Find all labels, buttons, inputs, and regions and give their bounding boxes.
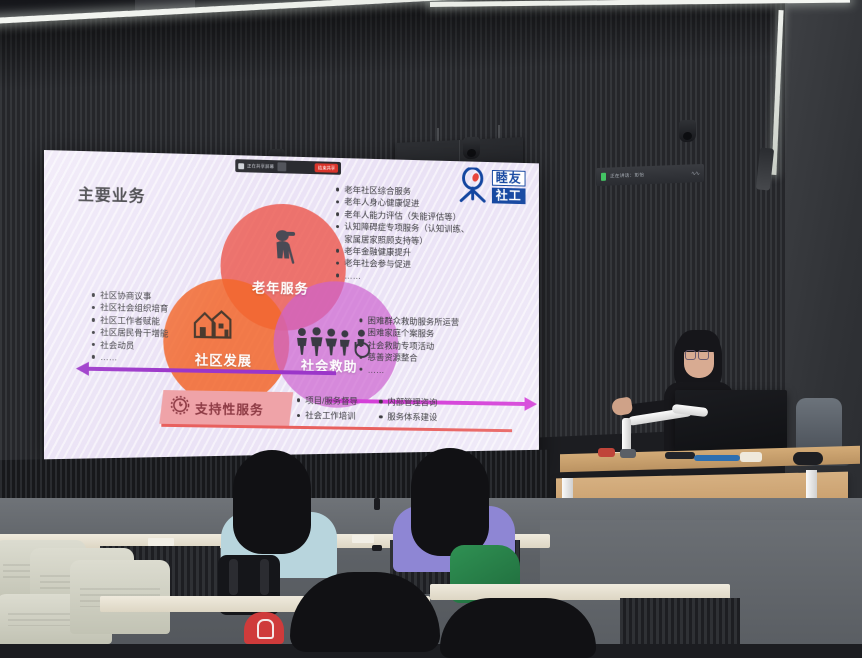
list-item: ……	[359, 363, 459, 377]
list-item: ……	[92, 351, 169, 365]
bullet-dot	[336, 261, 339, 264]
elderly-services-list: 老年社区综合服务 老年人身心健康促进 老年人能力评估（失能评估等） 认知障碍症专…	[336, 184, 469, 285]
share-status-label: 正在共享屏幕	[247, 163, 274, 170]
list-item: 项目/服务督导	[297, 394, 358, 407]
bullet-dot	[336, 212, 339, 215]
list-item: 社会工作培训	[297, 409, 358, 422]
bullet-dot	[92, 331, 95, 334]
circle-community-label: 社区发展	[195, 349, 252, 370]
list-item-label: ……	[344, 270, 361, 283]
list-item-label: 慈善资源整合	[368, 351, 418, 364]
audience-hair	[290, 572, 440, 652]
audio-wave-icon: ∿∿	[691, 170, 699, 177]
list-item-label: 社会工作培训	[305, 410, 355, 423]
red-cap[interactable]	[244, 612, 284, 644]
list-item: ……	[336, 269, 469, 284]
desk-object-red[interactable]	[598, 448, 615, 457]
brand-line-1: 睦友	[492, 170, 526, 187]
signal-icon	[238, 163, 244, 169]
desk-object-grey[interactable]	[620, 449, 636, 458]
eyeglasses-icon	[685, 350, 709, 358]
list-item-label: 项目/服务督导	[305, 394, 358, 407]
bullet-dot	[92, 306, 95, 309]
phone-raised[interactable]	[374, 498, 380, 510]
support-column-1: 项目/服务督导 社会工作培训	[297, 394, 358, 422]
laptop-stand	[694, 455, 740, 461]
support-divider	[161, 424, 512, 432]
bullet-dot	[336, 249, 339, 252]
speaker-mount-wire	[498, 125, 500, 139]
presenter-fringe	[678, 330, 720, 352]
brand-line-2: 社工	[492, 188, 526, 205]
bullet-dot	[359, 368, 362, 371]
desk-bag[interactable]	[793, 452, 823, 465]
list-item-label: 内部管理咨询	[387, 396, 437, 409]
presenter-monitor[interactable]	[675, 390, 787, 450]
bullet-dot	[336, 188, 339, 191]
support-services-banner: 支持性服务	[159, 390, 293, 426]
audience-hair	[233, 450, 311, 554]
bullet-dot	[379, 415, 382, 418]
camera	[463, 137, 480, 160]
bullet-dot	[359, 343, 362, 346]
list-item-label: 社会动员	[100, 339, 134, 352]
audience-member	[205, 450, 335, 570]
lecture-hall-scene: 正在讲话：彭怡 ∿∿ 正在共享屏幕 结束共享 主要业务	[0, 0, 862, 644]
list-item-label: 社区协商议事	[100, 289, 151, 302]
list-item-label: 服务体系建设	[387, 411, 437, 424]
app-icon	[277, 162, 286, 171]
camera	[679, 120, 696, 143]
slide-title: 主要业务	[78, 181, 146, 207]
bullet-dot	[336, 225, 339, 228]
wall-panel-label: 正在讲话：彭怡	[610, 172, 644, 179]
stop-share-button[interactable]: 结束共享	[315, 163, 338, 173]
desk-modesty-panel	[620, 598, 740, 644]
phone[interactable]	[372, 545, 382, 551]
elderly-person-icon	[270, 229, 299, 270]
bullet-dot	[336, 274, 339, 277]
list-item: 服务体系建设	[379, 411, 437, 424]
bullet-dot	[92, 318, 95, 321]
paper-sheet	[352, 535, 374, 543]
houses-icon	[191, 305, 234, 345]
paper-sheet	[148, 538, 174, 546]
list-item-label: 社区工作者赋能	[100, 314, 160, 328]
bullet-dot	[336, 200, 339, 203]
community-development-list: 社区协商议事 社区社会组织培育 社区工作者赋能 社区居民骨干增能 社会动员 ……	[92, 289, 169, 365]
audience-member	[440, 598, 596, 658]
projection-screen: 正在共享屏幕 结束共享 主要业务 睦友	[44, 150, 539, 467]
bullet-dot	[297, 414, 300, 417]
desk-paper	[740, 452, 762, 462]
gear-icon	[169, 394, 191, 421]
list-item-label: ……	[368, 364, 385, 377]
presentation-slide: 正在共享屏幕 结束共享 主要业务 睦友	[44, 150, 539, 467]
bullet-dot	[92, 355, 95, 358]
brand-text: 睦友 社工	[492, 170, 526, 204]
support-column-2: 内部管理咨询 服务体系建设	[379, 396, 437, 424]
list-item-label: ……	[100, 351, 117, 364]
audience-hair	[440, 598, 596, 658]
bullet-dot	[359, 331, 362, 334]
bullet-dot	[92, 343, 95, 346]
support-banner-label: 支持性服务	[195, 398, 264, 418]
bullet-dot	[359, 319, 362, 322]
bullet-dot	[297, 399, 300, 402]
desk-remote[interactable]	[665, 452, 695, 459]
support-columns: 项目/服务督导 社会工作培训 内部管理咨询 服务体系建设	[297, 394, 437, 424]
audience-member	[290, 572, 440, 652]
audience-hair	[411, 448, 489, 556]
bullet-dot	[92, 293, 95, 296]
list-item: 内部管理咨询	[379, 396, 437, 409]
bullet-dot	[359, 355, 362, 358]
status-led	[601, 173, 606, 181]
circle-elderly-label: 老年服务	[252, 277, 309, 298]
screen-share-toolbar[interactable]: 正在共享屏幕 结束共享	[235, 159, 341, 175]
social-relief-list: 困难群众救助服务所运营 困难家庭个案服务 社会救助专项活动 慈善资源整合 ……	[359, 314, 459, 377]
bullet-dot	[379, 400, 382, 403]
